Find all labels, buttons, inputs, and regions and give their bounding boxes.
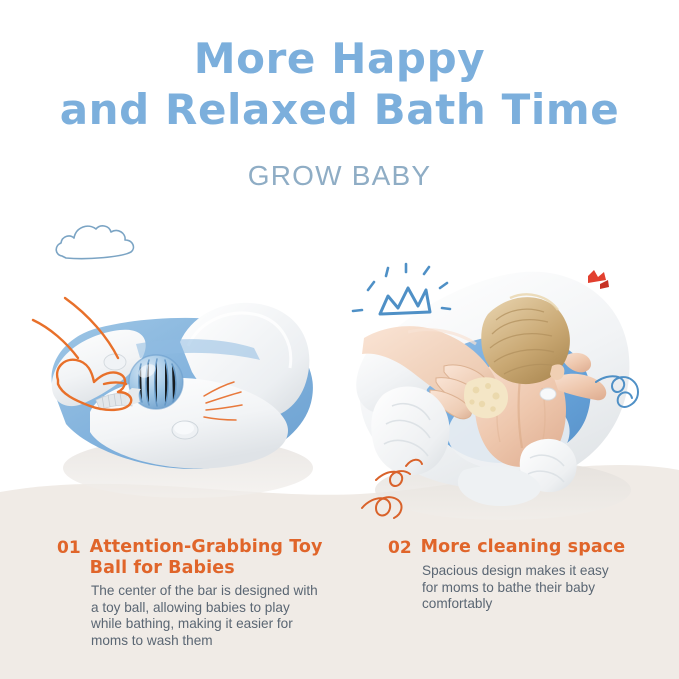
page-title: More Happy and Relaxed Bath Time <box>0 33 679 135</box>
feature-02-number: 02 <box>388 537 412 559</box>
product-photo-toy-ball <box>28 272 328 504</box>
cloud-outline-icon <box>52 219 144 267</box>
feature-02-heading: 02 More cleaning space <box>388 537 653 559</box>
feature-02-description: Spacious design makes it easy for moms t… <box>422 563 622 613</box>
product-photo-cleaning-space <box>348 262 648 524</box>
page-title-line-1: More Happy <box>0 33 679 84</box>
feature-01-heading: 01 Attention-Grabbing Toy Ball for Babie… <box>57 537 327 579</box>
feature-02-title: More cleaning space <box>421 537 626 558</box>
feature-01-description: The center of the bar is designed with a… <box>91 583 319 649</box>
brand-subtitle: GROW BABY <box>0 160 679 192</box>
feature-block-01: 01 Attention-Grabbing Toy Ball for Babie… <box>57 537 327 649</box>
feature-01-number: 01 <box>57 537 81 559</box>
feature-01-title: Attention-Grabbing Toy Ball for Babies <box>90 537 327 579</box>
feature-block-02: 02 More cleaning space Spacious design m… <box>388 537 653 613</box>
product-feature-infographic: More Happy and Relaxed Bath Time GROW BA… <box>0 0 679 679</box>
red-accent <box>588 270 609 289</box>
page-title-line-2: and Relaxed Bath Time <box>0 84 679 135</box>
